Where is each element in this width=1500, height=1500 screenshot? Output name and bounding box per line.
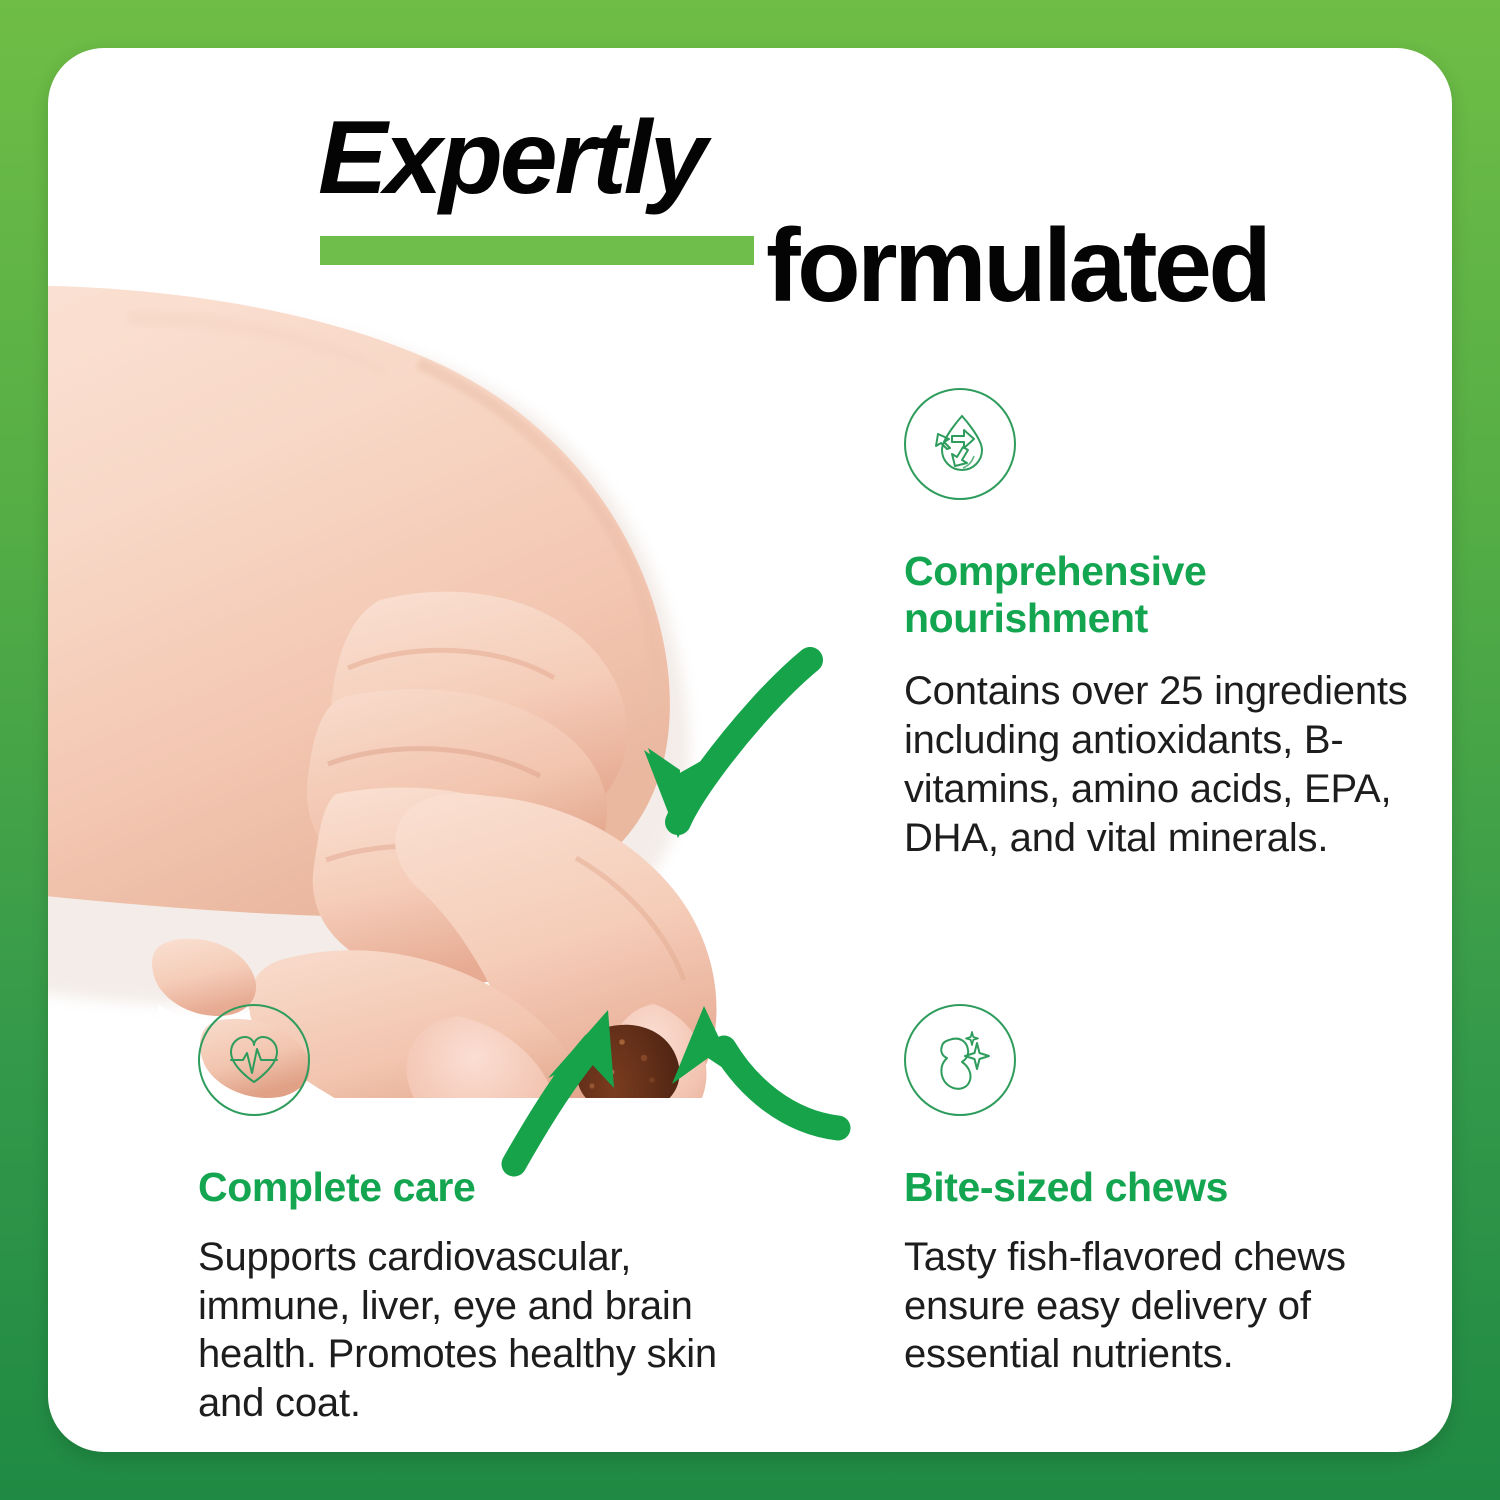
headline-highlight-bar <box>320 236 754 265</box>
feature-comprehensive-nourishment: Comprehensive nourishment Contains over … <box>904 388 1452 863</box>
headline-line-1: Expertly <box>318 106 704 210</box>
chew-sparkle-icon <box>904 1004 1016 1116</box>
headline-line-2: formulated <box>766 214 1268 318</box>
headline-emphasis-word: Expertly <box>318 106 704 210</box>
droplet-recycle-icon <box>904 388 1016 500</box>
feature-body: Contains over 25 ingredients including a… <box>904 667 1452 862</box>
feature-body: Tasty fish-flavored chews ensure easy de… <box>904 1233 1364 1379</box>
page-title: Expertly formulated <box>272 106 1392 356</box>
feature-title: Bite-sized chews <box>904 1164 1374 1211</box>
headline-rest-word: formulated <box>766 214 1268 318</box>
feature-complete-care: Complete care Supports cardiovascular, i… <box>198 1004 768 1428</box>
heart-pulse-icon <box>198 1004 310 1116</box>
hand-holding-chew-photo <box>48 198 888 1098</box>
infographic-canvas: Expertly formulated <box>0 0 1500 1500</box>
feature-body: Supports cardiovascular, immune, liver, … <box>198 1233 758 1428</box>
feature-title: Comprehensive nourishment <box>904 548 1452 641</box>
feature-title: Complete care <box>198 1164 768 1211</box>
arrow-to-chew-from-top-right <box>644 660 810 838</box>
feature-bite-sized-chews: Bite-sized chews Tasty fish-flavored che… <box>904 1004 1374 1379</box>
content-card: Expertly formulated <box>48 48 1452 1452</box>
